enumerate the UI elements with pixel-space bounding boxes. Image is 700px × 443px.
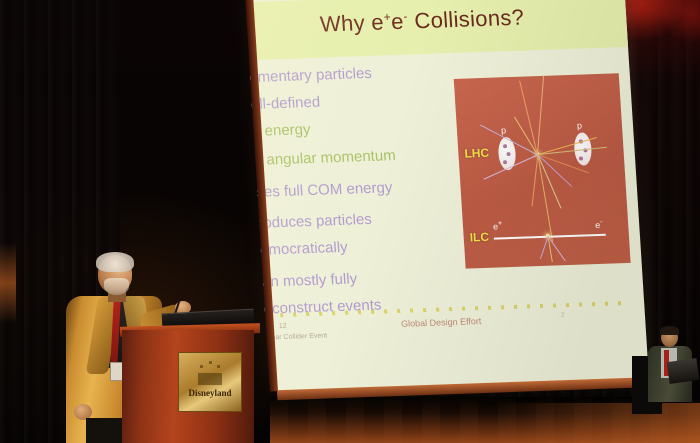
bullet-item-1: ementary particles xyxy=(249,63,450,86)
proton-label-right: p xyxy=(577,121,583,131)
slide-footer-date: 12 xyxy=(279,323,287,330)
lhc-track xyxy=(537,75,545,155)
stage-light-flare xyxy=(0,243,16,323)
projection-screen: Why e+e- Collisions? ementary particles … xyxy=(252,0,649,391)
lhc-track xyxy=(519,80,538,155)
lhc-track xyxy=(531,155,538,207)
presentation-stage-photo: Why e+e- Collisions? ementary particles … xyxy=(0,0,700,443)
slide-page-number: 2 xyxy=(561,312,565,319)
stage-floor-glow xyxy=(450,403,700,443)
collision-event-figure: LHC ILC p p xyxy=(454,73,631,268)
bullet-item-4: angular momentum xyxy=(254,146,455,169)
castle-icon xyxy=(195,361,225,385)
slide-bullet-list: ementary particles ell-defined energy an… xyxy=(249,63,465,328)
bullet-item-7: emocratically xyxy=(260,236,461,259)
electron-label: e- xyxy=(595,217,603,230)
bullet-item-2: ell-defined xyxy=(250,90,451,113)
attendee-hair xyxy=(660,326,679,335)
speaker-hair xyxy=(96,252,134,272)
bullet-item-8: an mostly fully xyxy=(262,268,463,291)
positron-label: e+ xyxy=(493,218,503,231)
slide-footer-center: Global Design Effort xyxy=(401,316,482,329)
podium-plaque: Disneyland xyxy=(178,352,242,412)
slide-title-suffix: Collisions? xyxy=(407,5,525,34)
bullet-item-3: energy xyxy=(252,117,453,140)
speaker-beard xyxy=(104,278,129,295)
attendee-laptop xyxy=(667,358,700,384)
bullet-item-5: ses full COM energy xyxy=(256,177,457,200)
ilc-track xyxy=(540,236,549,259)
proton-label-left: p xyxy=(501,125,507,135)
ilc-label: ILC xyxy=(469,230,489,245)
bullet-item-6: roduces particles xyxy=(258,209,459,232)
lhc-label: LHC xyxy=(464,146,490,161)
slide-surface: Why e+e- Collisions? ementary particles … xyxy=(252,0,649,391)
slide-title-prefix: Why e xyxy=(319,9,384,36)
slide-footer-event: near Collider Event xyxy=(267,332,327,341)
podium-plaque-text: Disneyland xyxy=(179,388,241,398)
